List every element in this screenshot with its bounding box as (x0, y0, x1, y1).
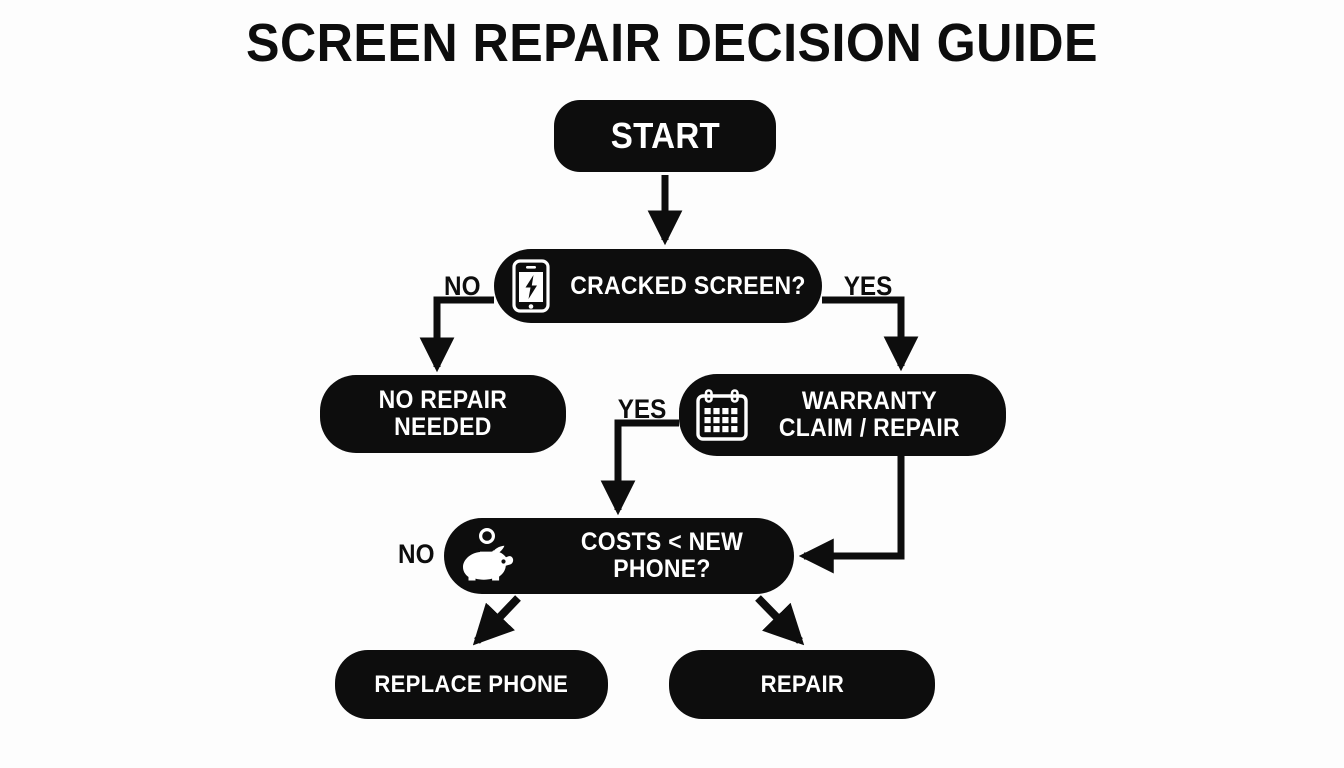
edge-warranty-yes-to-costs (618, 423, 679, 510)
node-repair-label: REPAIR (760, 672, 843, 698)
edge-costs-to-replace (477, 598, 518, 641)
node-warranty-claim-repair[interactable]: WARRANTY CLAIM / REPAIR (679, 374, 1006, 456)
node-cracked-screen[interactable]: CRACKED SCREEN? (494, 249, 822, 323)
node-costs-vs-new-phone-label: COSTS < NEW PHONE? (541, 529, 784, 583)
edge-label-cracked-no: NO (444, 271, 480, 302)
node-costs-vs-new-phone[interactable]: COSTS < NEW PHONE? (444, 518, 794, 594)
node-no-repair-needed[interactable]: NO REPAIR NEEDED (320, 375, 566, 453)
edge-costs-to-repair (758, 598, 800, 641)
edge-cracked-no-to-norepair (437, 300, 494, 367)
edge-label-warranty-yes: YES (618, 394, 667, 425)
node-replace-phone-label: REPLACE PHONE (375, 672, 569, 698)
node-start-label: START (610, 117, 719, 156)
node-repair[interactable]: REPAIR (669, 650, 935, 719)
phone-crack-icon (512, 259, 550, 313)
edge-warranty-to-costs-right (804, 456, 901, 556)
node-start[interactable]: START (554, 100, 776, 172)
node-warranty-claim-repair-label: WARRANTY CLAIM / REPAIR (779, 388, 960, 442)
node-no-repair-needed-label: NO REPAIR NEEDED (379, 387, 508, 441)
page-title: SCREEN REPAIR DECISION GUIDE (47, 12, 1297, 74)
edge-label-cracked-yes: YES (844, 271, 893, 302)
node-cracked-screen-label: CRACKED SCREEN? (570, 273, 805, 300)
piggy-bank-icon (458, 528, 520, 584)
edge-cracked-yes-to-warranty (822, 300, 901, 366)
node-replace-phone[interactable]: REPLACE PHONE (335, 650, 608, 719)
calendar-icon (695, 389, 749, 441)
edge-label-costs-no: NO (398, 539, 434, 570)
